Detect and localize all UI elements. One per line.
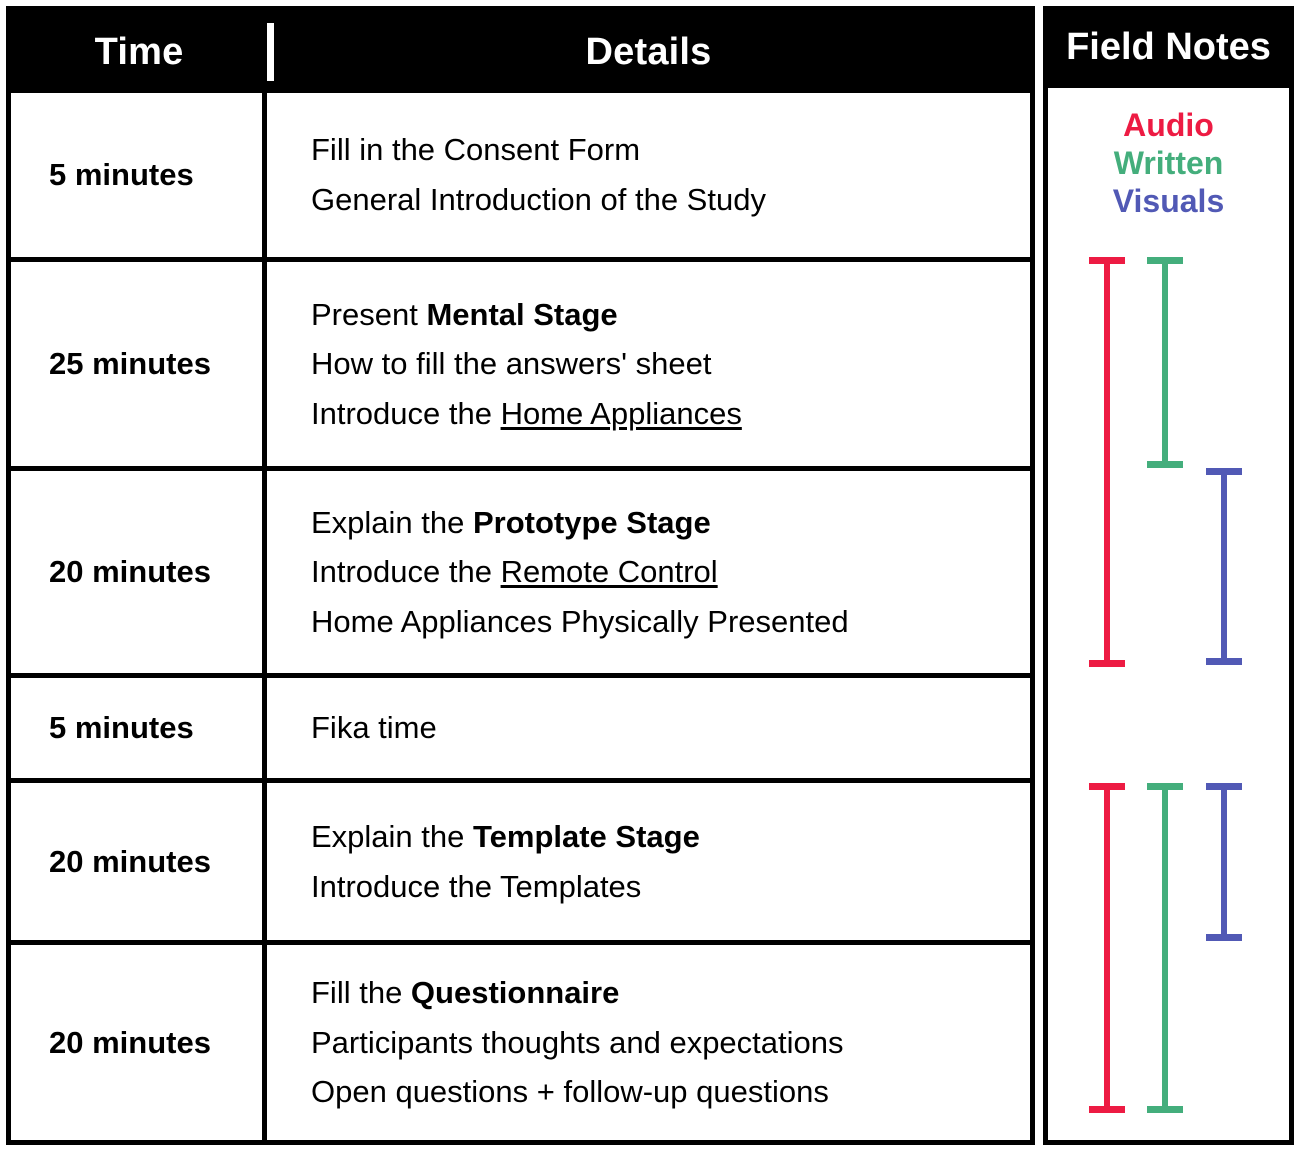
detail-text: Introduce the bbox=[311, 554, 501, 589]
span-marker-visuals bbox=[1221, 783, 1227, 941]
header-divider-1 bbox=[267, 23, 274, 81]
column-header-time: Time bbox=[11, 11, 267, 93]
session-schedule-table: Time Details 5 minutes Fill in the Conse… bbox=[0, 0, 1300, 1151]
table-header-row: Time Details bbox=[11, 11, 1030, 93]
detail-text: How to fill the answers' sheet bbox=[311, 346, 712, 381]
marker-cap-bottom bbox=[1206, 658, 1242, 665]
detail-emphasis: Questionnaire bbox=[411, 975, 619, 1010]
cell-details: Fill the Questionnaire Participants thou… bbox=[267, 945, 1030, 1140]
detail-text: Introduce the bbox=[311, 396, 501, 431]
detail-underlined: Home Appliances bbox=[501, 396, 742, 431]
detail-line: Explain the Prototype Stage bbox=[311, 502, 1010, 544]
cell-time: 25 minutes bbox=[11, 262, 267, 466]
field-notes-legend: Audio Written Visuals bbox=[1048, 107, 1289, 220]
schedule-grid: Time Details 5 minutes Fill in the Conse… bbox=[6, 6, 1035, 1145]
cell-time: 5 minutes bbox=[11, 678, 267, 778]
detail-line: General Introduction of the Study bbox=[311, 179, 1010, 221]
marker-stem bbox=[1104, 257, 1110, 667]
field-notes-column: Field Notes Audio Written Visuals bbox=[1043, 6, 1294, 1145]
cell-time: 5 minutes bbox=[11, 93, 267, 257]
marker-cap-bottom bbox=[1089, 1106, 1125, 1113]
marker-stem bbox=[1221, 468, 1227, 665]
detail-line: Explain the Template Stage bbox=[311, 816, 1010, 858]
detail-text: Open questions + follow-up questions bbox=[311, 1074, 829, 1109]
column-header-details: Details bbox=[267, 11, 1030, 93]
detail-text: Present bbox=[311, 297, 426, 332]
detail-line: How to fill the answers' sheet bbox=[311, 343, 1010, 385]
marker-cap-top bbox=[1206, 468, 1242, 475]
column-header-field-notes: Field Notes bbox=[1043, 6, 1294, 88]
detail-emphasis: Prototype Stage bbox=[473, 505, 711, 540]
cell-details: Explain the Prototype Stage Introduce th… bbox=[267, 471, 1030, 673]
detail-line: Introduce the Remote Control bbox=[311, 551, 1010, 593]
detail-line: Present Mental Stage bbox=[311, 294, 1010, 336]
detail-text: Explain the bbox=[311, 819, 473, 854]
cell-time: 20 minutes bbox=[11, 471, 267, 673]
detail-line: Home Appliances Physically Presented bbox=[311, 601, 1010, 643]
marker-cap-top bbox=[1147, 257, 1183, 264]
table-body: 5 minutes Fill in the Consent Form Gener… bbox=[11, 93, 1030, 1140]
marker-stem bbox=[1104, 783, 1110, 1113]
detail-text: Home Appliances Physically Presented bbox=[311, 604, 849, 639]
detail-line: Participants thoughts and expectations bbox=[311, 1022, 1010, 1064]
detail-emphasis: Template Stage bbox=[473, 819, 700, 854]
table-row: 20 minutes Explain the Prototype Stage I… bbox=[11, 466, 1030, 673]
detail-text: Explain the bbox=[311, 505, 473, 540]
detail-text: Fill the bbox=[311, 975, 411, 1010]
marker-stem bbox=[1162, 783, 1168, 1113]
table-row: 25 minutes Present Mental Stage How to f… bbox=[11, 257, 1030, 466]
marker-cap-top bbox=[1089, 257, 1125, 264]
legend-item-written: Written bbox=[1048, 145, 1289, 183]
marker-cap-top bbox=[1089, 783, 1125, 790]
marker-cap-bottom bbox=[1147, 461, 1183, 468]
table-row: 5 minutes Fill in the Consent Form Gener… bbox=[11, 93, 1030, 257]
table-row: 20 minutes Fill the Questionnaire Partic… bbox=[11, 940, 1030, 1140]
table-row: 5 minutes Fika time bbox=[11, 673, 1030, 778]
marker-cap-bottom bbox=[1147, 1106, 1183, 1113]
marker-stem bbox=[1162, 257, 1168, 468]
marker-stem bbox=[1221, 783, 1227, 941]
span-marker-audio bbox=[1104, 257, 1110, 667]
legend-item-visuals: Visuals bbox=[1048, 183, 1289, 221]
cell-details: Explain the Template Stage Introduce the… bbox=[267, 783, 1030, 940]
detail-line: Fill the Questionnaire bbox=[311, 972, 1010, 1014]
detail-underlined: Remote Control bbox=[501, 554, 718, 589]
detail-text: Participants thoughts and expectations bbox=[311, 1025, 844, 1060]
legend-item-audio: Audio bbox=[1048, 107, 1289, 145]
table-row: 20 minutes Explain the Template Stage In… bbox=[11, 778, 1030, 940]
cell-details: Present Mental Stage How to fill the ans… bbox=[267, 262, 1030, 466]
detail-text: Introduce the Templates bbox=[311, 869, 641, 904]
detail-line: Introduce the Home Appliances bbox=[311, 393, 1010, 435]
marker-cap-top bbox=[1147, 783, 1183, 790]
marker-cap-top bbox=[1206, 783, 1242, 790]
span-marker-audio bbox=[1104, 783, 1110, 1113]
detail-emphasis: Mental Stage bbox=[426, 297, 617, 332]
cell-details: Fill in the Consent Form General Introdu… bbox=[267, 93, 1030, 257]
span-marker-written bbox=[1162, 783, 1168, 1113]
span-marker-visuals bbox=[1221, 468, 1227, 665]
detail-line: Open questions + follow-up questions bbox=[311, 1071, 1010, 1113]
detail-text: Fika time bbox=[311, 710, 437, 745]
marker-cap-bottom bbox=[1206, 934, 1242, 941]
cell-time: 20 minutes bbox=[11, 783, 267, 940]
cell-time: 20 minutes bbox=[11, 945, 267, 1140]
detail-line: Fika time bbox=[311, 707, 1010, 749]
cell-details: Fika time bbox=[267, 678, 1030, 778]
marker-cap-bottom bbox=[1089, 660, 1125, 667]
detail-line: Fill in the Consent Form bbox=[311, 129, 1010, 171]
span-marker-written bbox=[1162, 257, 1168, 468]
detail-line: Introduce the Templates bbox=[311, 866, 1010, 908]
